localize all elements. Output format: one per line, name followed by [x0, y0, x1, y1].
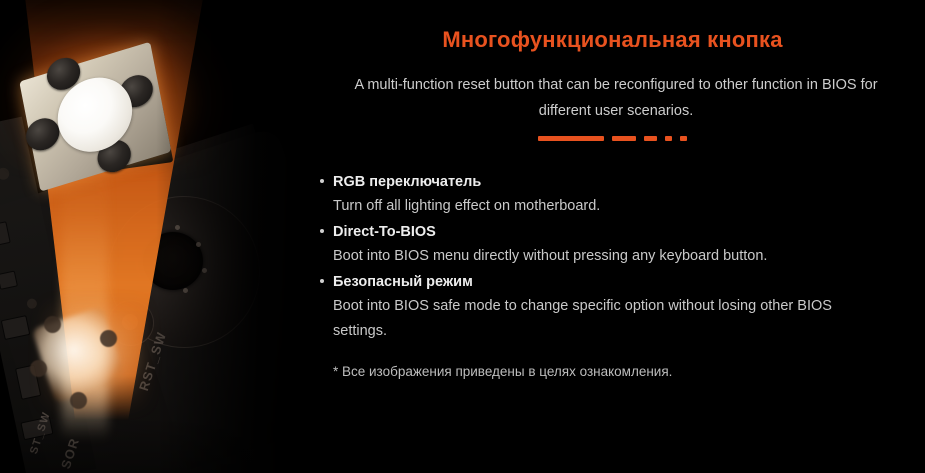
page-title: Многофункциональная кнопка — [300, 26, 925, 54]
feature-description: Boot into BIOS menu directly without pre… — [318, 244, 878, 269]
page-subtitle: A multi-function reset button that can b… — [332, 72, 900, 124]
pcb-dot — [196, 242, 201, 247]
bullet-dot-icon — [320, 179, 324, 183]
feature-list: RGB переключатель Turn off all lighting … — [318, 170, 918, 345]
divider-dash — [680, 136, 687, 141]
list-item: RGB переключатель Turn off all lighting … — [318, 170, 918, 219]
button-leg — [100, 330, 117, 347]
content-column: Многофункциональная кнопка A multi-funct… — [300, 0, 925, 473]
pcb-pad — [26, 298, 38, 310]
pcb-chip — [0, 272, 17, 289]
pcb-chip — [2, 316, 29, 339]
promo-panel: RST_SW SOR ST_SW Многофункциональная кно… — [0, 0, 925, 473]
feature-heading: RGB переключатель — [318, 170, 918, 194]
bullet-dot-icon — [320, 229, 324, 233]
footnote: * Все изображения приведены в целях озна… — [333, 362, 672, 382]
product-photo: RST_SW SOR ST_SW — [0, 0, 300, 473]
divider-dash — [538, 136, 604, 141]
feature-heading: Безопасный режим — [318, 270, 918, 294]
feature-description: Boot into BIOS safe mode to change speci… — [318, 294, 878, 344]
decorative-divider — [300, 136, 925, 141]
divider-dash — [665, 136, 672, 141]
list-item: Безопасный режим Boot into BIOS safe mod… — [318, 270, 918, 344]
pcb-dot — [175, 225, 180, 230]
button-leg — [44, 316, 61, 333]
button-leg — [30, 360, 47, 377]
feature-description: Turn off all lighting effect on motherbo… — [318, 194, 878, 219]
list-item: Direct-To-BIOS Boot into BIOS menu direc… — [318, 220, 918, 269]
divider-dash — [612, 136, 636, 141]
button-leg — [70, 392, 87, 409]
bullet-dot-icon — [320, 279, 324, 283]
pcb-dot — [183, 288, 188, 293]
divider-dash — [644, 136, 657, 141]
pcb-dot — [202, 268, 207, 273]
pcb-chip — [0, 222, 10, 247]
feature-heading: Direct-To-BIOS — [318, 220, 918, 244]
